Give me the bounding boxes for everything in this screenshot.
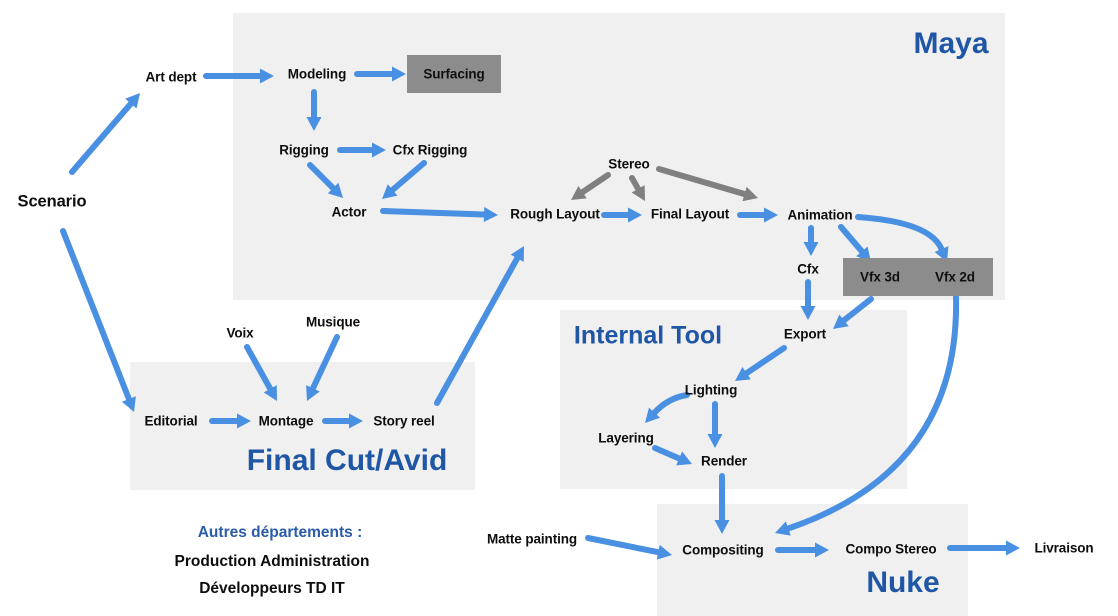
edge-shaft-actor-to-rough-layout [383,211,484,215]
group-title-nuke: Nuke [866,566,939,600]
chip-label-surfacing: Surfacing [423,67,484,82]
group-title-finalcut: Final Cut/Avid [247,444,448,478]
node-compositing[interactable]: Compositing [682,543,763,558]
node-animation[interactable]: Animation [787,208,852,223]
departments-row-2: Développeurs TD IT [199,580,345,598]
node-render[interactable]: Render [701,454,747,469]
group-title-maya: Maya [913,27,988,61]
node-export[interactable]: Export [784,327,826,342]
node-final-layout[interactable]: Final Layout [651,207,729,222]
node-lighting[interactable]: Lighting [685,383,737,398]
node-cfx[interactable]: Cfx [797,262,818,277]
node-montage[interactable]: Montage [259,414,314,429]
group-title-internal: Internal Tool [574,322,722,351]
node-matte-painting[interactable]: Matte painting [487,532,577,547]
edge-shaft-scenario-to-editorial [63,231,129,399]
node-compo-stereo[interactable]: Compo Stereo [845,542,936,557]
node-rough-layout[interactable]: Rough Layout [510,207,600,222]
node-rigging[interactable]: Rigging [279,143,329,158]
node-editorial[interactable]: Editorial [144,414,197,429]
edge-shaft-scenario-to-art-dept [72,104,131,172]
node-voix[interactable]: Voix [226,326,253,341]
node-cfx-rigging[interactable]: Cfx Rigging [393,143,468,158]
node-livraison[interactable]: Livraison [1034,541,1093,556]
departments-heading: Autres départements : [198,524,363,542]
diagram-svg [0,0,1118,616]
node-stereo[interactable]: Stereo [608,157,649,172]
edge-arrowhead-compo-stereo-to-livraison [1006,541,1020,556]
chip-label-vfx-2d: Vfx 2d [935,270,975,285]
node-actor[interactable]: Actor [332,205,367,220]
node-art-dept[interactable]: Art dept [146,70,197,85]
diagram-canvas: MayaFinal Cut/AvidInternal ToolNukeSurfa… [0,0,1118,616]
chip-label-vfx-3d: Vfx 3d [860,270,900,285]
node-story-reel[interactable]: Story reel [373,414,434,429]
edge-shaft-matte-painting-to-compositing [588,538,658,552]
node-musique[interactable]: Musique [306,315,360,330]
node-scenario[interactable]: Scenario [18,193,87,212]
departments-row-1: Production Administration [175,553,370,571]
node-modeling[interactable]: Modeling [288,67,346,82]
node-layering[interactable]: Layering [598,431,653,446]
